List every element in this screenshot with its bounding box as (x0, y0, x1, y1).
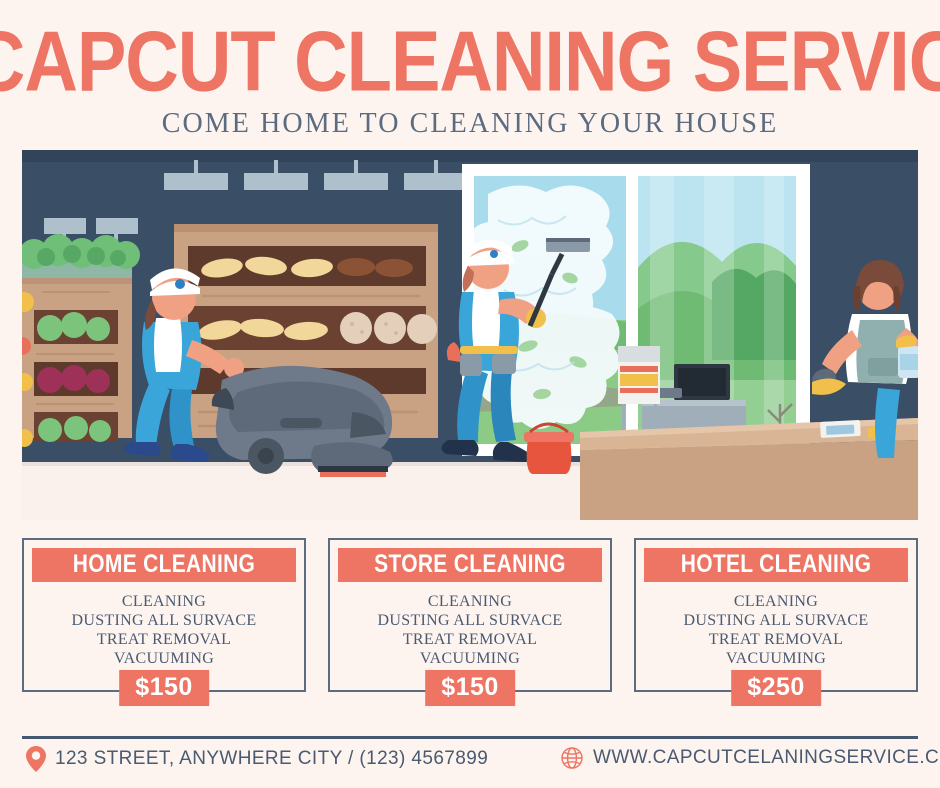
card-title-hotel: HOTEL CLEANING (681, 551, 871, 579)
card-services-store: CLEANING DUSTING ALL SURVACE TREAT REMOV… (330, 592, 610, 668)
card-title-home: HOME CLEANING (73, 551, 255, 579)
card-header-home: HOME CLEANING (32, 548, 296, 582)
pricing-card-store[interactable]: STORE CLEANING CLEANING DUSTING ALL SURV… (328, 538, 612, 692)
footer-divider (22, 736, 918, 739)
card-title-store: STORE CLEANING (374, 551, 566, 579)
service-item: CLEANING (636, 592, 916, 611)
service-item: TREAT REMOVAL (636, 630, 916, 649)
globe-icon (560, 746, 584, 770)
price-badge-store: $150 (425, 670, 515, 706)
pricing-cards: HOME CLEANING CLEANING DUSTING ALL SURVA… (22, 538, 918, 698)
footer-address: 123 STREET, ANYWHERE CITY / (123) 456789… (26, 746, 488, 772)
service-item: VACUUMING (636, 649, 916, 668)
service-item: DUSTING ALL SURVACE (636, 611, 916, 630)
service-item: VACUUMING (330, 649, 610, 668)
footer-website[interactable]: WWW.CAPCUTCELANINGSERVICE.COM (560, 746, 940, 770)
price-badge-hotel: $250 (731, 670, 821, 706)
page-subtitle: COME HOME TO CLEANING YOUR HOUSE (0, 108, 940, 140)
service-item: TREAT REMOVAL (24, 630, 304, 649)
poster: CAPCUT CLEANING SERVICE COME HOME TO CLE… (0, 0, 940, 788)
pricing-card-home[interactable]: HOME CLEANING CLEANING DUSTING ALL SURVA… (22, 538, 306, 692)
service-item: VACUUMING (24, 649, 304, 668)
website-text: WWW.CAPCUTCELANINGSERVICE.COM (593, 747, 940, 769)
price-badge-home: $150 (119, 670, 209, 706)
service-item: TREAT REMOVAL (330, 630, 610, 649)
service-item: DUSTING ALL SURVACE (330, 611, 610, 630)
vegetable-crates (22, 218, 140, 447)
hero-illustration (22, 150, 918, 520)
pricing-card-hotel[interactable]: HOTEL CLEANING CLEANING DUSTING ALL SURV… (634, 538, 918, 692)
card-header-store: STORE CLEANING (338, 548, 602, 582)
page-title: CAPCUT CLEANING SERVICE (0, 16, 940, 106)
address-text: 123 STREET, ANYWHERE CITY / (123) 456789… (55, 748, 488, 770)
map-pin-icon (26, 746, 46, 772)
service-item: CLEANING (330, 592, 610, 611)
service-item: DUSTING ALL SURVACE (24, 611, 304, 630)
card-services-hotel: CLEANING DUSTING ALL SURVACE TREAT REMOV… (636, 592, 916, 668)
card-services-home: CLEANING DUSTING ALL SURVACE TREAT REMOV… (24, 592, 304, 668)
card-header-hotel: HOTEL CLEANING (644, 548, 908, 582)
service-item: CLEANING (24, 592, 304, 611)
